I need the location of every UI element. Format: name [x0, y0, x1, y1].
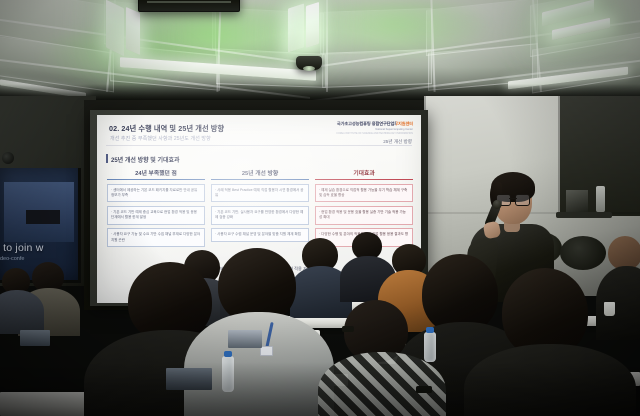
wall-camera	[2, 152, 14, 164]
laptop	[228, 330, 262, 348]
slide-divider	[106, 145, 412, 146]
audience-member-foreground	[472, 268, 614, 416]
ceiling-projector	[296, 56, 322, 70]
hanging-object	[560, 236, 606, 270]
shelf-box	[566, 190, 588, 212]
section-accent-bar	[106, 154, 108, 163]
column-cell: · 예제 실습 환경으로 직접적 활용 가능을 무기 학습 체계 구축 및 습득…	[315, 184, 413, 203]
audience-member	[0, 268, 40, 328]
column-cell: · 기존 코드 기반, 실사용자 요구를 반영한 환경에서 다양한 예제 검증 …	[211, 206, 309, 225]
ceiling-hvac-unit	[138, 0, 240, 12]
side-monitor-text: e to join w	[0, 242, 43, 254]
column-header: 25년 개선 방향	[211, 168, 309, 180]
column-header: 24년 부족했던 점	[107, 168, 205, 180]
water-bottle	[222, 356, 234, 392]
laptop	[20, 330, 50, 346]
ceiling-light-panel	[306, 2, 319, 48]
column-cell: · 현업 환경 적용 및 운용 효율 활용 실증 기반 기술 적용 가능성 확대	[315, 206, 413, 225]
ceiling	[0, 0, 640, 108]
column-cell: · 기존 코드 기반 예제 중심 교육으로 현업 환경 적용 및 응용 단계에서…	[107, 206, 205, 225]
paper-cup	[604, 302, 615, 316]
ceiling-light-panel	[106, 0, 124, 56]
organization-logo: 국가초고성능컴퓨팅 융합연구단업무지원센터 National Supercomp…	[336, 121, 413, 135]
shelf-bottle	[596, 186, 605, 212]
audience-member-foreground	[326, 300, 430, 416]
conference-room-photo: e to join w video-confe 02. 24년 수행 내역 및 …	[0, 0, 640, 416]
logo-main-text: 국가초고성능컴퓨팅 융합연구단업무지원센터	[336, 121, 413, 127]
column-cell: · 센터에서 제공하는 기본 코드 패키지를 자료로만 안내 공유 정보가 부족	[107, 184, 205, 203]
smartphone	[416, 386, 432, 393]
shelf-ledge	[556, 212, 612, 218]
side-monitor-subtext: video-confe	[0, 256, 24, 262]
column-header: 기대효과	[315, 168, 413, 180]
column-cell: · 사례 적용 Best Practice 예제 직접 활용자 시연 환경에서 …	[211, 184, 309, 203]
video-call-inner-screen	[26, 210, 60, 224]
section-heading: 25년 개선 방향 및 기대효과	[111, 155, 180, 164]
slide-column-1: 24년 부족했던 점 · 센터에서 제공하는 기본 코드 패키지를 자료로만 안…	[107, 168, 205, 247]
ceiling-light-panel	[126, 7, 140, 55]
column-cell: · 사용자 요구 기능 및 수요 기반 수집 채널 부재로 다양한 분야 지원 …	[107, 228, 205, 247]
water-bottle	[424, 332, 436, 362]
smartphone	[342, 326, 354, 332]
audience-member	[604, 236, 640, 346]
desk	[0, 392, 96, 416]
logo-sub-text: National Supercomputing Center	[336, 128, 413, 131]
slide-title: 02. 24년 수행 내역 및 25년 개선 방향	[109, 124, 224, 134]
logo-tagline: KOREA INSTITUTE OF SCIENCE AND TECHNOLOG…	[336, 132, 413, 135]
laptop	[166, 368, 212, 390]
slide-subtitle: 개선 추진 중 부족했던 사항과 25년도 개선 방향	[110, 135, 211, 142]
ceiling-light-panel	[288, 3, 304, 52]
slide-column-2: 25년 개선 방향 · 사례 적용 Best Practice 예제 직접 활용…	[211, 168, 309, 247]
